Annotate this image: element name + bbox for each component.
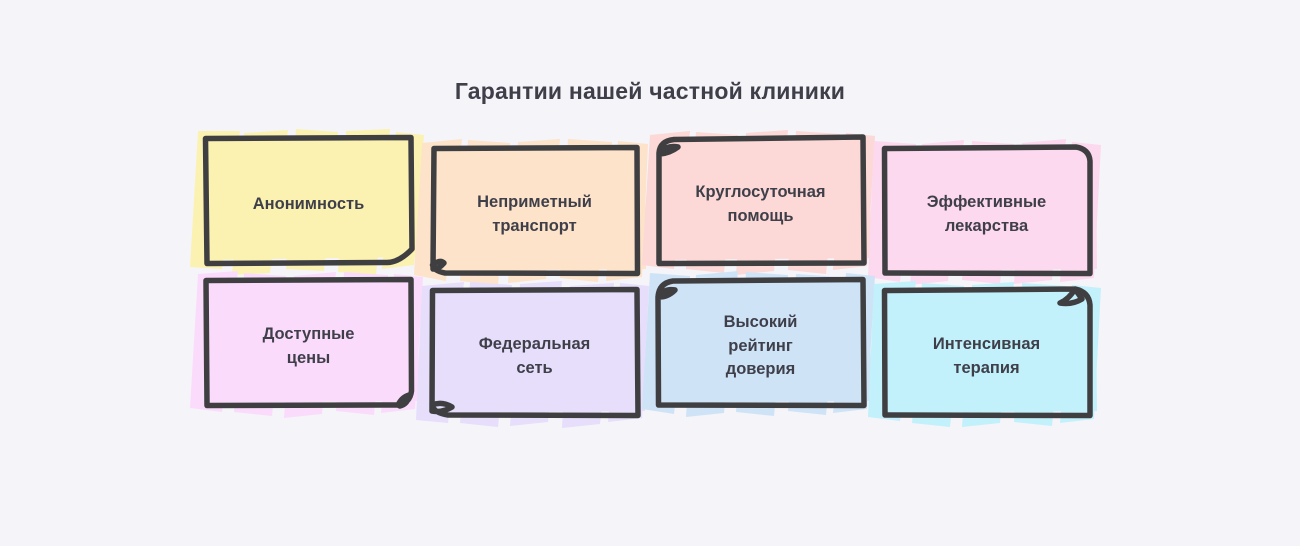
card-discreet-transport[interactable]: Неприметный транспорт <box>432 153 637 276</box>
card-shape-effective-medicines <box>870 139 1103 290</box>
crayon-fill-round-the-clock-help <box>642 130 875 275</box>
card-high-trust-rating[interactable]: Высокий рейтинг доверия <box>658 285 863 408</box>
card-anonymity[interactable]: Анонимность <box>206 143 411 266</box>
crayon-fill-anonymity <box>190 129 424 275</box>
crayon-fill-affordable-prices <box>190 271 423 418</box>
card-intensive-therapy[interactable]: Интенсивная терапия <box>884 295 1089 418</box>
card-round-the-clock-help[interactable]: Круглосуточная помощь <box>658 143 863 266</box>
card-grid: Анонимность Неприметный транспорт <box>206 143 1096 428</box>
card-shape-high-trust-rating <box>644 271 877 422</box>
card-shape-affordable-prices <box>192 271 425 422</box>
card-shape-federal-network <box>418 281 651 432</box>
crayon-fill-effective-medicines <box>868 139 1101 285</box>
diagram-canvas: Гарантии нашей частной клиники <box>0 0 1300 546</box>
card-shape-discreet-transport <box>418 139 651 290</box>
page-title: Гарантии нашей частной клиники <box>0 78 1300 105</box>
crayon-fill-high-trust-rating <box>642 271 875 417</box>
card-shape-anonymity <box>192 129 425 280</box>
card-shape-intensive-therapy <box>870 281 1103 432</box>
card-effective-medicines[interactable]: Эффективные лекарства <box>884 153 1089 276</box>
card-federal-network[interactable]: Федеральная сеть <box>432 295 637 418</box>
crayon-fill-discreet-transport <box>414 139 648 285</box>
card-shape-round-the-clock-help <box>644 129 877 280</box>
card-affordable-prices[interactable]: Доступные цены <box>206 285 411 408</box>
